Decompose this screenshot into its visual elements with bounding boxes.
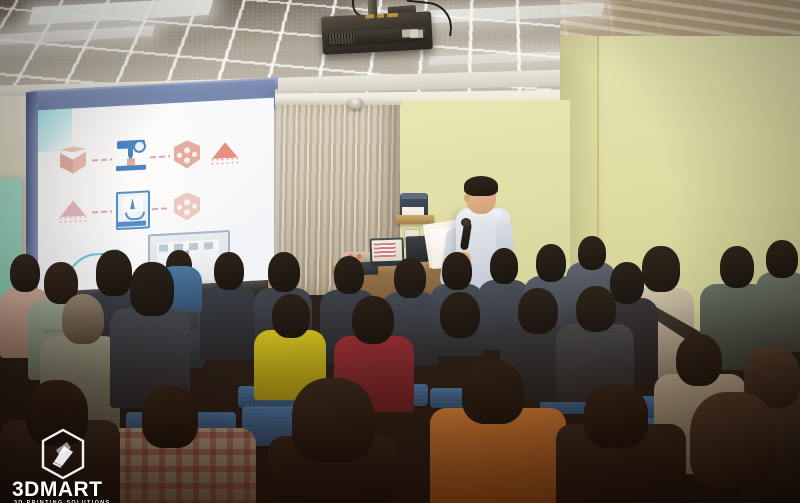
dome-camera-icon bbox=[348, 98, 363, 109]
post-process-box-icon bbox=[116, 190, 150, 230]
presenter-ear bbox=[464, 194, 470, 202]
microphone-head bbox=[461, 218, 471, 227]
powder-pile-icon bbox=[210, 141, 240, 165]
printed-object-icon bbox=[174, 140, 200, 169]
hexagon-3d-mark-icon bbox=[40, 428, 86, 480]
projector-port bbox=[387, 13, 398, 18]
projector bbox=[321, 11, 433, 55]
3d-printer-icon bbox=[116, 139, 146, 173]
wall-shelf bbox=[396, 215, 434, 224]
watermark-logo: 3DMART 3D PRINTING SOLUTIONS bbox=[12, 428, 132, 496]
shelf-device-top bbox=[401, 193, 427, 199]
cube-model-icon bbox=[60, 146, 86, 175]
seminar-room-photo: southern EUROCE MECHAN bbox=[0, 0, 800, 503]
finished-object-icon bbox=[174, 192, 200, 221]
projector-port bbox=[377, 14, 384, 18]
laptop-screen-content bbox=[374, 243, 396, 258]
projector-vent bbox=[328, 33, 354, 44]
powder-pile-icon bbox=[58, 200, 88, 224]
curtain-rail bbox=[270, 98, 402, 105]
logo-name: 3DMART bbox=[12, 478, 132, 502]
presenter-hair bbox=[464, 176, 498, 196]
projector-port bbox=[365, 14, 374, 18]
projector-label bbox=[410, 30, 423, 39]
